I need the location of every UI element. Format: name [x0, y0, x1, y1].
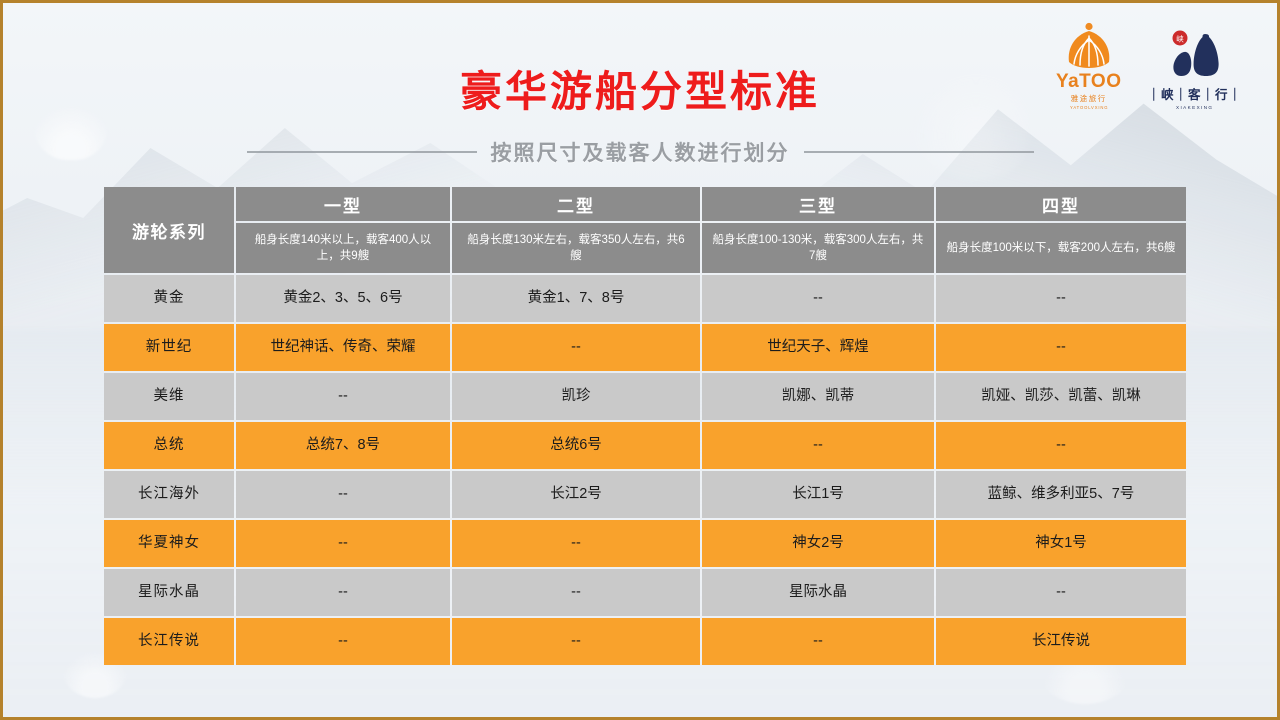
- ship-list-cell: 总统6号: [452, 422, 700, 469]
- empty-value-cell: --: [452, 618, 700, 665]
- empty-value-cell: --: [236, 373, 450, 420]
- ship-list-cell: 长江传说: [936, 618, 1186, 665]
- empty-value-cell: --: [236, 618, 450, 665]
- table-row: 长江传说------长江传说: [104, 618, 1186, 665]
- ship-list-cell: 神女1号: [936, 520, 1186, 567]
- type-header-4: 四型: [936, 187, 1186, 221]
- type-description-3: 船身长度100-130米，载客300人左右，共7艘: [702, 223, 934, 273]
- table-row: 华夏神女----神女2号神女1号: [104, 520, 1186, 567]
- ship-list-cell: 凯娅、凯莎、凯蕾、凯琳: [936, 373, 1186, 420]
- type-header-3: 三型: [702, 187, 934, 221]
- ship-list-cell: 星际水晶: [702, 569, 934, 616]
- svg-text:峡: 峡: [1176, 33, 1184, 43]
- table-row: 星际水晶----星际水晶--: [104, 569, 1186, 616]
- empty-value-cell: --: [936, 324, 1186, 371]
- ship-list-cell: 长江1号: [702, 471, 934, 518]
- ship-list-cell: 神女2号: [702, 520, 934, 567]
- series-name-cell: 美维: [104, 373, 234, 420]
- type-description-4: 船身长度100米以下，载客200人左右，共6艘: [936, 223, 1186, 273]
- subtitle-row: 按照尺寸及载客人数进行划分: [0, 137, 1280, 167]
- empty-value-cell: --: [702, 618, 934, 665]
- ship-list-cell: 黄金2、3、5、6号: [236, 275, 450, 322]
- table-row: 长江海外--长江2号长江1号蓝鲸、维多利亚5、7号: [104, 471, 1186, 518]
- subtitle-rule-right: [804, 151, 1034, 153]
- cruise-classification-table-wrapper: 游轮系列 一型 二型 三型 四型 船身长度140米以上，载客400人以上，共9艘…: [102, 185, 1180, 667]
- ship-list-cell: 蓝鲸、维多利亚5、7号: [936, 471, 1186, 518]
- series-name-cell: 星际水晶: [104, 569, 234, 616]
- empty-value-cell: --: [452, 520, 700, 567]
- table-body: 黄金黄金2、3、5、6号黄金1、7、8号----新世纪世纪神话、传奇、荣耀--世…: [104, 275, 1186, 665]
- type-header-1: 一型: [236, 187, 450, 221]
- empty-value-cell: --: [702, 275, 934, 322]
- subtitle-rule-left: [247, 151, 477, 153]
- corner-header-series: 游轮系列: [104, 187, 234, 273]
- table-head: 游轮系列 一型 二型 三型 四型 船身长度140米以上，载客400人以上，共9艘…: [104, 187, 1186, 273]
- series-name-cell: 长江传说: [104, 618, 234, 665]
- empty-value-cell: --: [236, 520, 450, 567]
- empty-value-cell: --: [236, 569, 450, 616]
- empty-value-cell: --: [702, 422, 934, 469]
- table-row: 新世纪世纪神话、传奇、荣耀--世纪天子、辉煌--: [104, 324, 1186, 371]
- ship-list-cell: 黄金1、7、8号: [452, 275, 700, 322]
- ship-list-cell: 凯珍: [452, 373, 700, 420]
- empty-value-cell: --: [236, 471, 450, 518]
- table-head-row-type-descriptions: 船身长度140米以上，载客400人以上，共9艘 船身长度130米左右，载客350…: [104, 223, 1186, 273]
- type-header-2: 二型: [452, 187, 700, 221]
- series-name-cell: 总统: [104, 422, 234, 469]
- table-head-row-type-names: 游轮系列 一型 二型 三型 四型: [104, 187, 1186, 221]
- page-subtitle: 按照尺寸及载客人数进行划分: [491, 137, 790, 167]
- series-name-cell: 黄金: [104, 275, 234, 322]
- ship-list-cell: 凯娜、凯蒂: [702, 373, 934, 420]
- series-name-cell: 新世纪: [104, 324, 234, 371]
- empty-value-cell: --: [936, 275, 1186, 322]
- table-row: 美维--凯珍凯娜、凯蒂凯娅、凯莎、凯蕾、凯琳: [104, 373, 1186, 420]
- empty-value-cell: --: [452, 324, 700, 371]
- cruise-classification-table: 游轮系列 一型 二型 三型 四型 船身长度140米以上，载客400人以上，共9艘…: [102, 185, 1188, 667]
- empty-value-cell: --: [936, 569, 1186, 616]
- empty-value-cell: --: [452, 569, 700, 616]
- series-name-cell: 华夏神女: [104, 520, 234, 567]
- type-description-1: 船身长度140米以上，载客400人以上，共9艘: [236, 223, 450, 273]
- type-description-2: 船身长度130米左右，载客350人左右，共6艘: [452, 223, 700, 273]
- empty-value-cell: --: [936, 422, 1186, 469]
- page-title: 豪华游船分型标准: [0, 58, 1280, 119]
- ship-list-cell: 长江2号: [452, 471, 700, 518]
- ship-list-cell: 总统7、8号: [236, 422, 450, 469]
- table-row: 总统总统7、8号总统6号----: [104, 422, 1186, 469]
- table-row: 黄金黄金2、3、5、6号黄金1、7、8号----: [104, 275, 1186, 322]
- series-name-cell: 长江海外: [104, 471, 234, 518]
- ship-list-cell: 世纪神话、传奇、荣耀: [236, 324, 450, 371]
- ship-list-cell: 世纪天子、辉煌: [702, 324, 934, 371]
